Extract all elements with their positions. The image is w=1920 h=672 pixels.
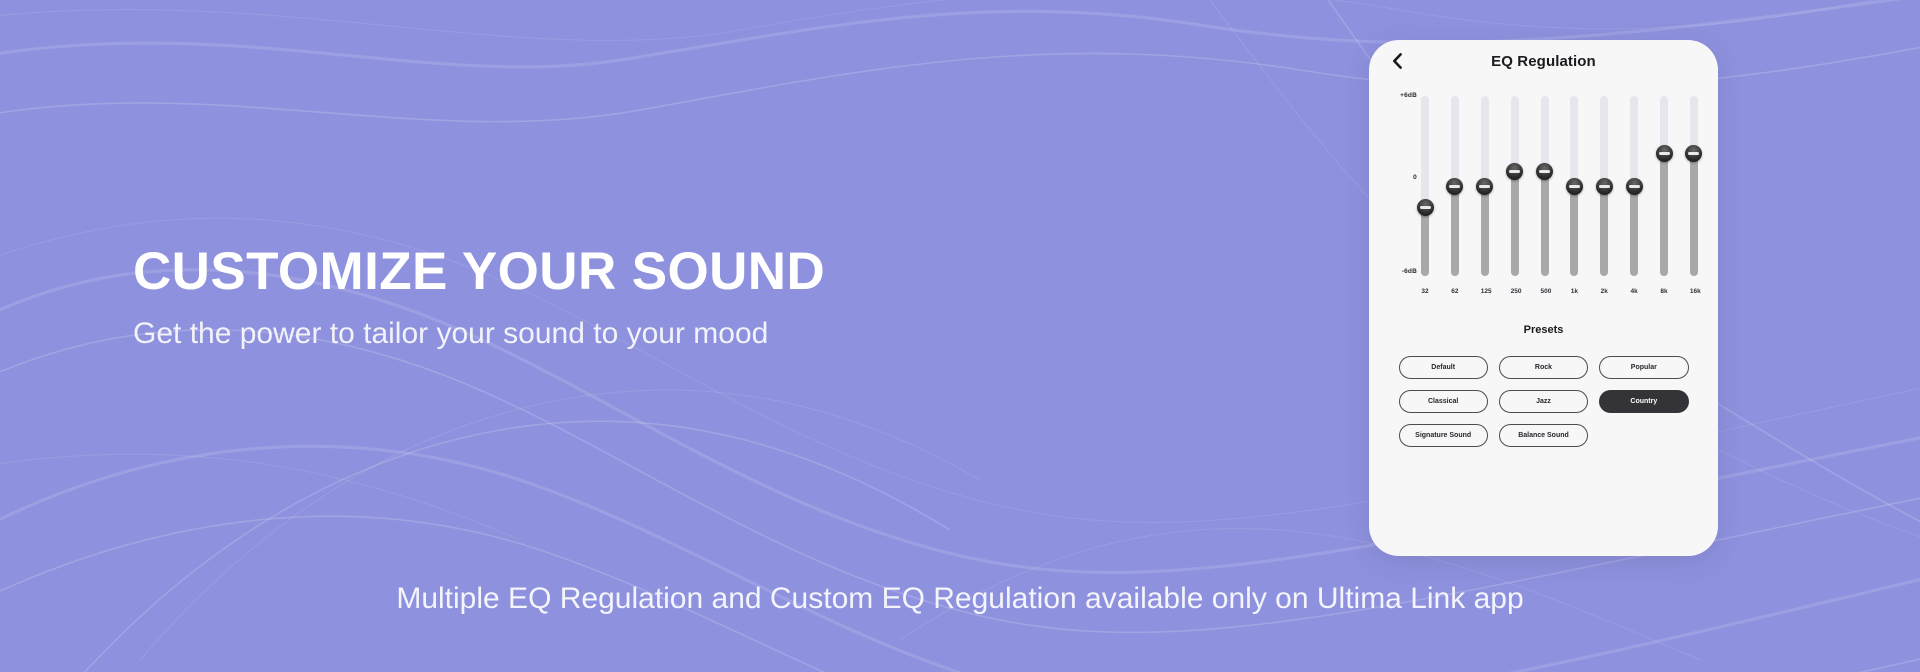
- page-title: CUSTOMIZE YOUR SOUND: [133, 244, 1033, 300]
- eq-slider-500[interactable]: [1541, 96, 1549, 276]
- eq-slider-1k[interactable]: [1570, 96, 1578, 276]
- presets-heading: Presets: [1369, 324, 1718, 336]
- promo-caption: Multiple EQ Regulation and Custom EQ Reg…: [335, 578, 1585, 619]
- eq-frequency-label-125: 125: [1481, 288, 1489, 295]
- equalizer-panel: +6dB 0 -6dB 32621252505001k2k4k8k16k: [1369, 96, 1718, 304]
- eq-slider-4k[interactable]: [1630, 96, 1638, 276]
- app-title: EQ Regulation: [1491, 53, 1596, 70]
- eq-frequency-label-250: 250: [1511, 288, 1519, 295]
- promo-copy: CUSTOMIZE YOUR SOUND Get the power to ta…: [133, 244, 1033, 353]
- eq-frequency-label-2k: 2k: [1600, 288, 1608, 295]
- preset-button-country[interactable]: Country: [1599, 390, 1688, 413]
- eq-slider-125[interactable]: [1481, 96, 1489, 276]
- eq-slider-thumb[interactable]: [1417, 199, 1434, 216]
- eq-slider-thumb[interactable]: [1536, 163, 1553, 180]
- db-scale: +6dB 0 -6dB: [1383, 96, 1417, 276]
- promo-subtitle: Get the power to tailor your sound to yo…: [133, 315, 1033, 353]
- preset-button-default[interactable]: Default: [1399, 356, 1488, 379]
- eq-slider-thumb[interactable]: [1656, 145, 1673, 162]
- preset-button-jazz[interactable]: Jazz: [1499, 390, 1588, 413]
- eq-frequency-labels: 32621252505001k2k4k8k16k: [1421, 288, 1698, 295]
- eq-slider-thumb[interactable]: [1685, 145, 1702, 162]
- eq-slider-fill: [1690, 154, 1698, 276]
- eq-slider-62[interactable]: [1451, 96, 1459, 276]
- db-label-top: +6dB: [1400, 92, 1417, 99]
- eq-slider-fill: [1481, 186, 1489, 276]
- eq-slider-thumb[interactable]: [1476, 178, 1493, 195]
- phone-app-card: EQ Regulation +6dB 0 -6dB 32621252505001…: [1369, 40, 1718, 556]
- eq-slider-thumb[interactable]: [1506, 163, 1523, 180]
- eq-slider-2k[interactable]: [1600, 96, 1608, 276]
- preset-button-classical[interactable]: Classical: [1399, 390, 1488, 413]
- eq-slider-32[interactable]: [1421, 96, 1429, 276]
- back-button[interactable]: [1387, 51, 1407, 71]
- eq-slider-fill: [1451, 186, 1459, 276]
- eq-frequency-label-8k: 8k: [1660, 288, 1668, 295]
- eq-slider-fill: [1660, 154, 1668, 276]
- eq-slider-fill: [1421, 208, 1429, 276]
- preset-button-grid: DefaultRockPopularClassicalJazzCountrySi…: [1399, 356, 1689, 447]
- preset-button-signature-sound[interactable]: Signature Sound: [1399, 424, 1488, 447]
- eq-frequency-label-1k: 1k: [1570, 288, 1578, 295]
- db-label-mid: 0: [1413, 174, 1417, 181]
- eq-slider-fill: [1600, 186, 1608, 276]
- eq-slider-thumb[interactable]: [1626, 178, 1643, 195]
- eq-slider-16k[interactable]: [1690, 96, 1698, 276]
- promo-banner: CUSTOMIZE YOUR SOUND Get the power to ta…: [0, 0, 1920, 672]
- eq-slider-thumb[interactable]: [1446, 178, 1463, 195]
- eq-frequency-label-62: 62: [1451, 288, 1459, 295]
- eq-slider-group: [1421, 96, 1698, 276]
- eq-slider-8k[interactable]: [1660, 96, 1668, 276]
- chevron-left-icon: [1392, 53, 1403, 69]
- eq-slider-250[interactable]: [1511, 96, 1519, 276]
- eq-slider-fill: [1630, 186, 1638, 276]
- preset-button-popular[interactable]: Popular: [1599, 356, 1688, 379]
- eq-frequency-label-16k: 16k: [1690, 288, 1698, 295]
- eq-slider-fill: [1511, 172, 1519, 276]
- eq-frequency-label-32: 32: [1421, 288, 1429, 295]
- preset-button-balance-sound[interactable]: Balance Sound: [1499, 424, 1588, 447]
- app-header: EQ Regulation: [1369, 40, 1718, 82]
- eq-frequency-label-4k: 4k: [1630, 288, 1638, 295]
- eq-slider-thumb[interactable]: [1596, 178, 1613, 195]
- eq-slider-thumb[interactable]: [1566, 178, 1583, 195]
- eq-slider-fill: [1541, 172, 1549, 276]
- eq-slider-fill: [1570, 186, 1578, 276]
- preset-button-rock[interactable]: Rock: [1499, 356, 1588, 379]
- db-label-bottom: -6dB: [1402, 268, 1417, 275]
- eq-frequency-label-500: 500: [1541, 288, 1549, 295]
